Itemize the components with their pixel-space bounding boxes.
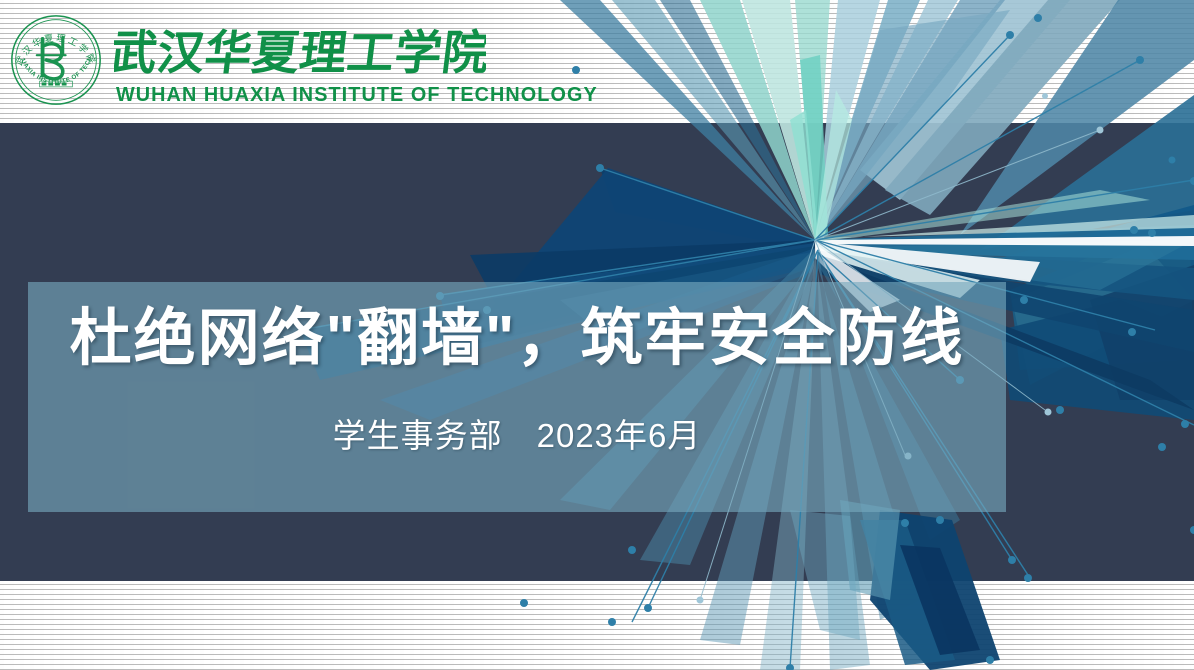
svg-text:武汉华夏理工学院: 武汉华夏理工学院 xyxy=(114,26,486,81)
university-logo: 武汉华夏理工学院 WUHAN HUAXIA INSTITUTE OF TECHN… xyxy=(8,4,488,116)
title-slide: 武汉华夏理工学院 WUHAN HUAXIA INSTITUTE OF TECHN… xyxy=(0,0,1194,670)
title-panel: 杜绝网络"翻墙"，筑牢安全防线 学生事务部 2023年6月 xyxy=(28,282,1006,512)
logo-text-block: 武汉华夏理工学院 WUHAN HUAXIA INSTITUTE OF TECHN… xyxy=(114,16,603,105)
page-title: 杜绝网络"翻墙"，筑牢安全防线 xyxy=(70,304,965,373)
university-seal-icon: 武汉华夏理工学院 WUHAN HUAXIA INSTITUTE OF TECHN… xyxy=(8,12,104,108)
slide-subtitle: 学生事务部 2023年6月 xyxy=(333,409,702,457)
institution-name-en: WUHAN HUAXIA INSTITUTE OF TECHNOLOGY xyxy=(116,85,598,105)
institution-name-cn: 武汉华夏理工学院 xyxy=(114,20,486,82)
bottom-dotted-texture-band xyxy=(0,580,1194,670)
